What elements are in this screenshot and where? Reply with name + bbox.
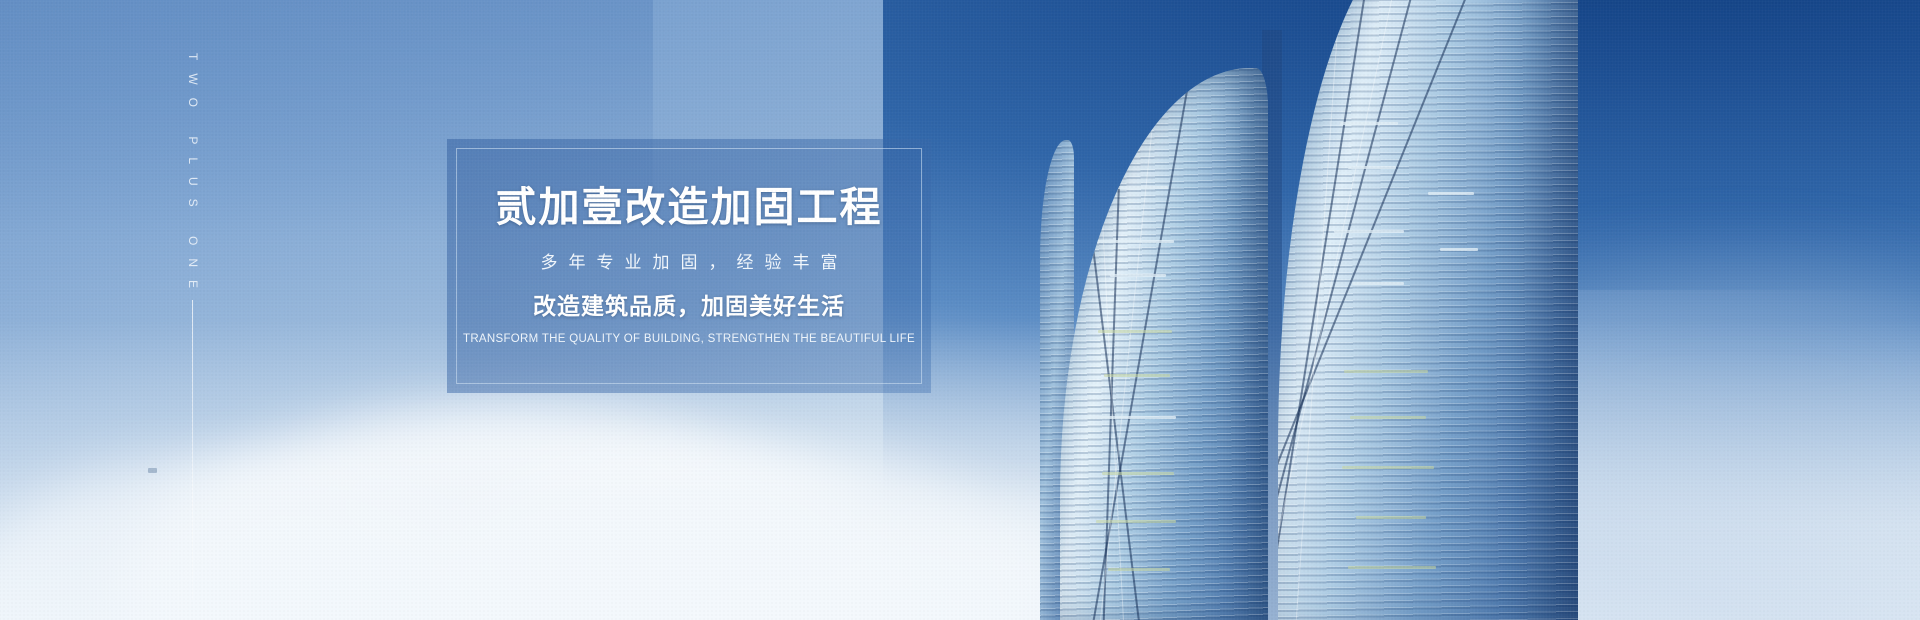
rear-tower xyxy=(1278,0,1578,620)
front-tower xyxy=(1060,68,1268,620)
banner-title: 贰加壹改造加固工程 xyxy=(496,187,883,228)
banner-subtitle: 多年专业加固，经验丰富 xyxy=(530,254,849,271)
hero-text-panel: 贰加壹改造加固工程 多年专业加固，经验丰富 改造建筑品质，加固美好生活 TRAN… xyxy=(447,139,931,393)
banner-english-caption: TRANSFORM THE QUALITY OF BUILDING, STREN… xyxy=(463,334,915,346)
vertical-brand-wordmark: TWO PLUS ONE xyxy=(178,70,208,400)
banner-slogan: 改造建筑品质，加固美好生活 xyxy=(533,295,845,318)
panel-content: 贰加壹改造加固工程 多年专业加固，经验丰富 改造建筑品质，加固美好生活 TRAN… xyxy=(447,139,931,393)
skyscraper-group xyxy=(1040,0,1600,620)
vertical-divider-line xyxy=(192,300,193,600)
vertical-brand-label: TWO PLUS ONE xyxy=(186,53,200,301)
hero-banner: TWO PLUS ONE 贰加壹改造加固工程 多年专业加固，经验丰富 改造建筑品… xyxy=(0,0,1920,620)
tower-floor-banding xyxy=(1060,68,1268,620)
small-decorative-mark xyxy=(148,468,157,473)
